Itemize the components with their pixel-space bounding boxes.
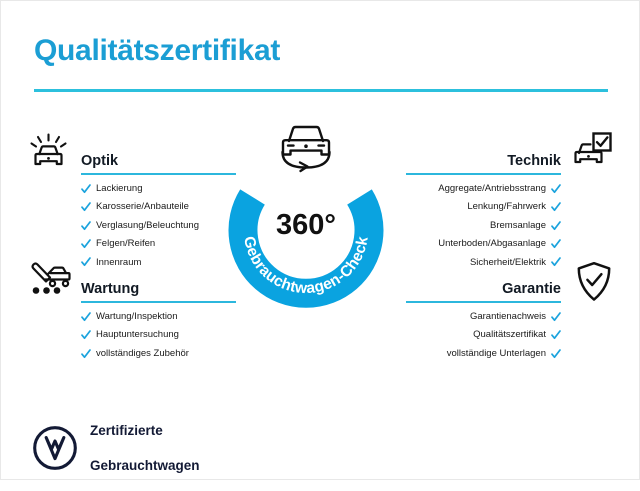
check-icon xyxy=(81,312,91,322)
title-divider xyxy=(34,89,608,92)
check-icon xyxy=(551,257,561,267)
check-icon xyxy=(81,330,91,340)
list-item-label: Karosserie/Anbauteile xyxy=(96,201,189,213)
list-item: Sicherheit/Elektrik xyxy=(406,257,561,269)
car-shine-icon xyxy=(29,133,69,171)
section-title-technik: Technik xyxy=(507,153,561,169)
car-rotation-icon xyxy=(267,121,345,177)
vw-logo-icon xyxy=(33,426,77,470)
check-icon xyxy=(551,312,561,322)
section-header-technik: Technik xyxy=(406,145,561,171)
check-icon xyxy=(81,257,91,267)
checklist-optik: Lackierung Karosserie/Anbauteile Verglas… xyxy=(81,183,236,268)
list-item: Innenraum xyxy=(81,257,236,269)
list-item-label: Lackierung xyxy=(96,183,142,195)
list-item: Unterboden/Abgasanlage xyxy=(406,238,561,250)
checklist-wartung: Wartung/Inspektion Hauptuntersuchung vol… xyxy=(81,311,236,360)
list-item: vollständiges Zubehör xyxy=(81,348,236,360)
section-title-wartung: Wartung xyxy=(81,281,139,297)
list-item: Felgen/Reifen xyxy=(81,238,236,250)
service-tool-car-icon xyxy=(27,259,71,299)
section-wartung: Wartung Wartung/Inspektion Hauptuntersuc… xyxy=(81,273,236,366)
list-item-label: Wartung/Inspektion xyxy=(96,311,178,323)
list-item-label: Hauptuntersuchung xyxy=(96,329,179,341)
list-item: Lackierung xyxy=(81,183,236,195)
section-header-optik: Optik xyxy=(81,145,236,171)
footer-line-1: Zertifizierte xyxy=(90,422,200,439)
check-icon xyxy=(551,221,561,231)
footer-brand-text: Zertifizierte Gebrauchtwagen xyxy=(90,405,200,491)
section-header-garantie: Garantie xyxy=(406,273,561,299)
section-garantie: Garantie Garantienachweis Qualitätszerti… xyxy=(406,273,561,366)
list-item: Garantienachweis xyxy=(406,311,561,323)
checklist-garantie: Garantienachweis Qualitätszertifikat vol… xyxy=(406,311,561,360)
list-item: Hauptuntersuchung xyxy=(81,329,236,341)
check-icon xyxy=(81,349,91,359)
shield-check-icon xyxy=(575,261,613,303)
section-technik: Technik Aggregate/Antriebsstrang Lenkung… xyxy=(406,145,561,275)
footer-brand: Zertifizierte Gebrauchtwagen xyxy=(33,405,200,491)
list-item: Karosserie/Anbauteile xyxy=(81,201,236,213)
check-icon xyxy=(81,184,91,194)
section-divider-technik xyxy=(406,173,561,175)
list-item-label: Verglasung/Beleuchtung xyxy=(96,220,199,232)
section-title-optik: Optik xyxy=(81,153,118,169)
section-title-garantie: Garantie xyxy=(502,281,561,297)
check-icon xyxy=(81,202,91,212)
list-item: Verglasung/Beleuchtung xyxy=(81,220,236,232)
page-title: Qualitätszertifikat xyxy=(34,34,280,68)
section-divider-wartung xyxy=(81,301,236,303)
list-item-label: Innenraum xyxy=(96,257,141,269)
list-item: Qualitätszertifikat xyxy=(406,329,561,341)
list-item-label: Felgen/Reifen xyxy=(96,238,155,250)
check-icon xyxy=(551,330,561,340)
footer-line-2: Gebrauchtwagen xyxy=(90,457,200,474)
badge-360-gebrauchtwagen-check: Gebrauchtwagen-Check 360° xyxy=(228,153,384,309)
section-divider-garantie xyxy=(406,301,561,303)
list-item: Aggregate/Antriebsstrang xyxy=(406,183,561,195)
section-divider-optik xyxy=(81,173,236,175)
section-header-wartung: Wartung xyxy=(81,273,236,299)
check-icon xyxy=(551,349,561,359)
list-item: Bremsanlage xyxy=(406,220,561,232)
section-optik: Optik Lackierung Karosserie/Anbauteile V… xyxy=(81,145,236,275)
list-item-label: Sicherheit/Elektrik xyxy=(470,257,546,269)
check-icon xyxy=(551,202,561,212)
list-item: Wartung/Inspektion xyxy=(81,311,236,323)
list-item-label: vollständige Unterlagen xyxy=(447,348,546,360)
list-item: Lenkung/Fahrwerk xyxy=(406,201,561,213)
list-item-label: Unterboden/Abgasanlage xyxy=(438,238,546,250)
list-item: vollständige Unterlagen xyxy=(406,348,561,360)
check-icon xyxy=(81,221,91,231)
check-icon xyxy=(551,184,561,194)
badge-center-label: 360° xyxy=(228,209,384,242)
list-item-label: Aggregate/Antriebsstrang xyxy=(438,183,546,195)
list-item-label: Bremsanlage xyxy=(490,220,546,232)
list-item-label: Qualitätszertifikat xyxy=(473,329,546,341)
checklist-technik: Aggregate/Antriebsstrang Lenkung/Fahrwer… xyxy=(406,183,561,268)
check-icon xyxy=(551,239,561,249)
check-icon xyxy=(81,239,91,249)
certificate-page: Qualitätszertifikat Optik xyxy=(1,1,639,479)
list-item-label: Garantienachweis xyxy=(470,311,546,323)
list-item-label: Lenkung/Fahrwerk xyxy=(467,201,546,213)
car-checkbox-icon xyxy=(571,131,613,171)
list-item-label: vollständiges Zubehör xyxy=(96,348,189,360)
